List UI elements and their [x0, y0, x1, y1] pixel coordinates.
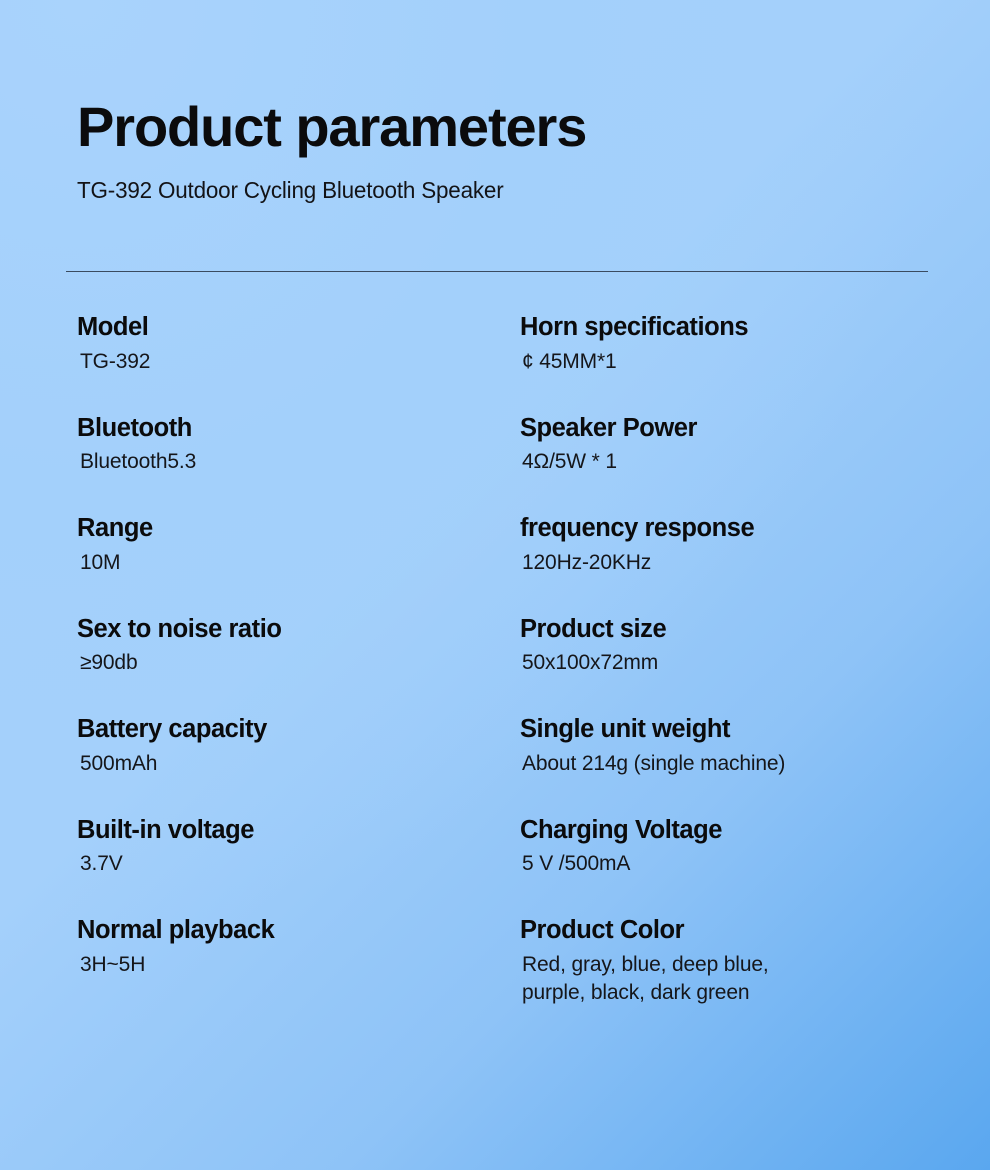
spec-value: 3.7V: [77, 845, 520, 878]
spec-item-charging-voltage: Charging Voltage 5 V /500mA: [520, 816, 990, 917]
spec-value: Red, gray, blue, deep blue, purple, blac…: [520, 946, 990, 1007]
spec-value: TG-392: [77, 343, 520, 376]
spec-value: ≥90db: [77, 644, 520, 677]
page-subtitle: TG-392 Outdoor Cycling Bluetooth Speaker: [77, 155, 890, 204]
spec-value: 120Hz-20KHz: [520, 544, 990, 577]
spec-value: 4Ω/5W * 1: [520, 443, 990, 476]
spec-label: Product size: [520, 615, 990, 645]
spec-item-range: Range 10M: [77, 514, 520, 615]
spec-item-speaker-power: Speaker Power 4Ω/5W * 1: [520, 414, 990, 515]
spec-value: 500mAh: [77, 745, 520, 778]
spec-label: Normal playback: [77, 916, 520, 946]
spec-label: Model: [77, 313, 520, 343]
spec-item-product-color: Product Color Red, gray, blue, deep blue…: [520, 916, 990, 1044]
spec-value: 50x100x72mm: [520, 644, 990, 677]
spec-item-single-unit-weight: Single unit weight About 214g (single ma…: [520, 715, 990, 816]
spec-item-product-size: Product size 50x100x72mm: [520, 615, 990, 716]
spec-value: Bluetooth5.3: [77, 443, 520, 476]
spec-item-signal-to-noise-ratio: Sex to noise ratio ≥90db: [77, 615, 520, 716]
page-header: Product parameters TG-392 Outdoor Cyclin…: [77, 98, 928, 204]
spec-item-model: Model TG-392: [77, 313, 520, 414]
spec-label: Range: [77, 514, 520, 544]
spec-label: Sex to noise ratio: [77, 615, 520, 645]
spec-item-battery-capacity: Battery capacity 500mAh: [77, 715, 520, 816]
spec-item-bluetooth: Bluetooth Bluetooth5.3: [77, 414, 520, 515]
spec-value: About 214g (single machine): [520, 745, 990, 778]
spec-item-horn-specifications: Horn specifications ¢ 45MM*1: [520, 313, 990, 414]
spec-item-frequency-response: frequency response 120Hz-20KHz: [520, 514, 990, 615]
spec-value: ¢ 45MM*1: [520, 343, 990, 376]
spec-value: 3H~5H: [77, 946, 520, 979]
spec-label: Horn specifications: [520, 313, 990, 343]
spec-label: Single unit weight: [520, 715, 990, 745]
spec-label: frequency response: [520, 514, 990, 544]
spec-item-normal-playback: Normal playback 3H~5H: [77, 916, 520, 1044]
spec-label: Product Color: [520, 916, 990, 946]
spec-item-built-in-voltage: Built-in voltage 3.7V: [77, 816, 520, 917]
spec-label: Charging Voltage: [520, 816, 990, 846]
page-title: Product parameters: [77, 98, 928, 155]
spec-label: Speaker Power: [520, 414, 990, 444]
product-parameters-page: Product parameters TG-392 Outdoor Cyclin…: [0, 0, 990, 1170]
spec-label: Built-in voltage: [77, 816, 520, 846]
spec-label: Bluetooth: [77, 414, 520, 444]
spec-value: 5 V /500mA: [520, 845, 990, 878]
header-divider: [66, 271, 928, 272]
spec-value: 10M: [77, 544, 520, 577]
spec-grid: Model TG-392 Horn specifications ¢ 45MM*…: [0, 313, 990, 1044]
spec-label: Battery capacity: [77, 715, 520, 745]
